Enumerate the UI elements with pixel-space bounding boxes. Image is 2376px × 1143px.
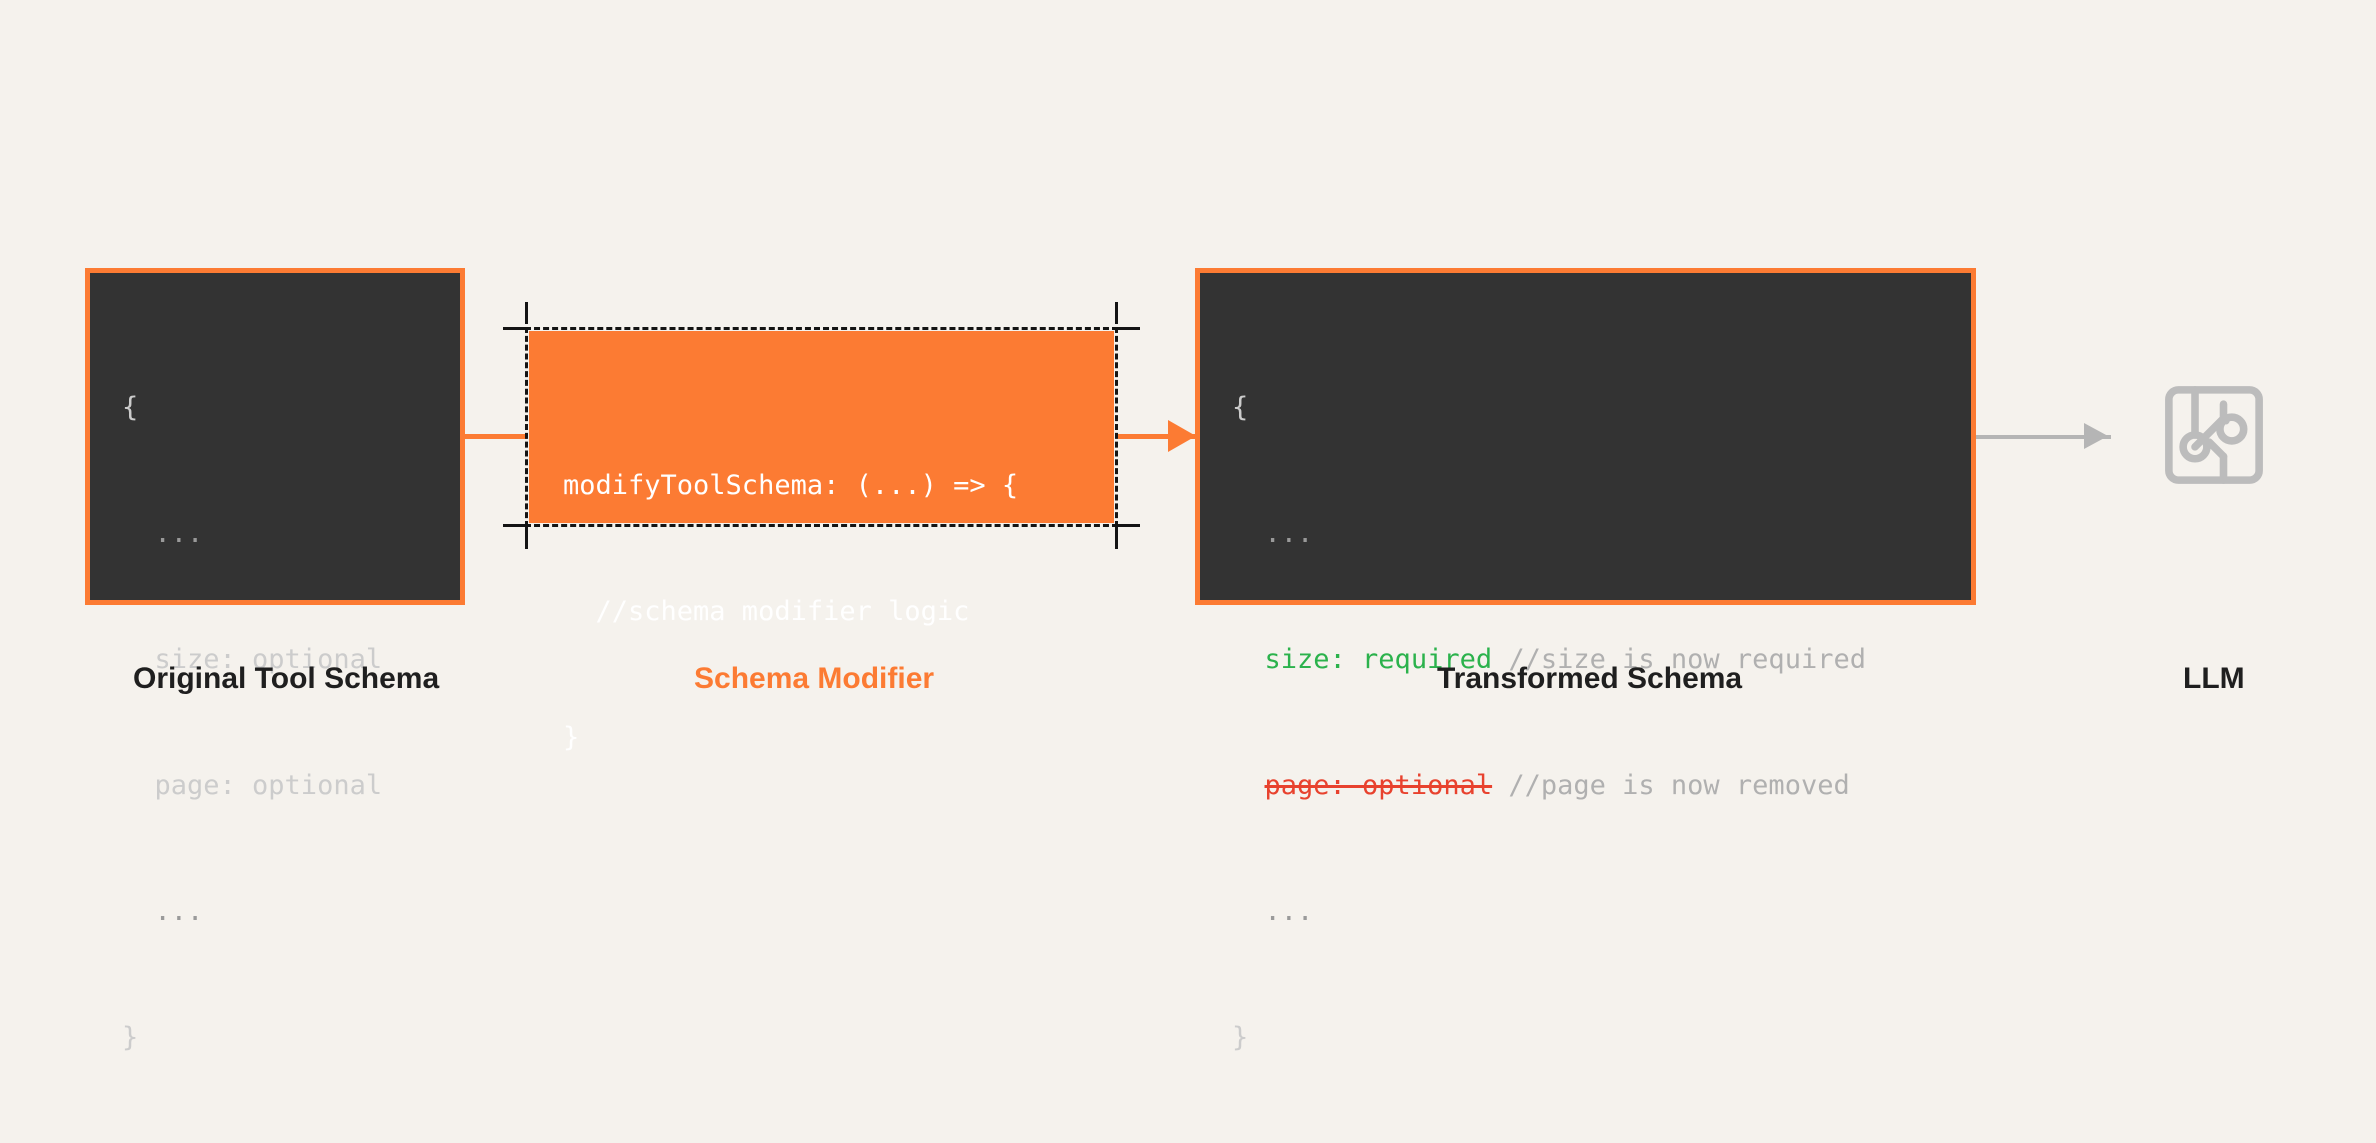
caption-original-tool-schema: Original Tool Schema [133,662,439,696]
caption-schema-modifier: Schema Modifier [694,662,934,696]
dash-tick [525,302,528,324]
connector-original-to-modifier [465,434,527,439]
arrow-head-icon [1168,420,1196,452]
code-line: ... [122,891,460,933]
code-line: page: optional [122,765,460,807]
dash-tick [1118,524,1140,527]
code-line: { [1232,387,1971,429]
dash-tick [1118,327,1140,330]
code-line: modifyToolSchema: (...) => { [563,465,1114,507]
dash-tick [525,527,528,549]
original-schema-panel: { ... size: optional page: optional ... … [85,268,465,605]
dash-tick [503,327,525,330]
code-line: ... [122,513,460,555]
transformed-schema-panel: { ... size: required //size is now requi… [1195,268,1976,605]
page-comment: //page is now removed [1492,770,1850,801]
page-removed-token: page: optional [1265,770,1493,801]
code-line-page: page: optional //page is now removed [1232,765,1971,807]
schema-modifier-group: modifyToolSchema: (...) => { //schema mo… [525,310,1118,545]
chip-circuit-icon-svg [2157,378,2271,492]
code-line: //schema modifier logic [563,591,1114,633]
dash-tick [1115,302,1118,324]
caption-transformed-schema: Transformed Schema [1437,662,1742,696]
caption-llm: LLM [2183,662,2245,696]
code-line: } [563,717,1114,759]
diagram-canvas: { ... size: optional page: optional ... … [0,0,2376,938]
arrow-head-icon [2084,423,2108,449]
indent [1232,644,1265,675]
code-line: ... [1232,513,1971,555]
chip-circuit-icon [2157,378,2271,492]
code-line: { [122,387,460,429]
code-line: } [122,1017,460,1059]
dash-tick [503,524,525,527]
indent [1232,770,1265,801]
dash-tick [1115,527,1118,549]
code-line: } [1232,1017,1971,1059]
code-line: ... [1232,891,1971,933]
schema-modifier-code-block: modifyToolSchema: (...) => { //schema mo… [529,331,1114,523]
